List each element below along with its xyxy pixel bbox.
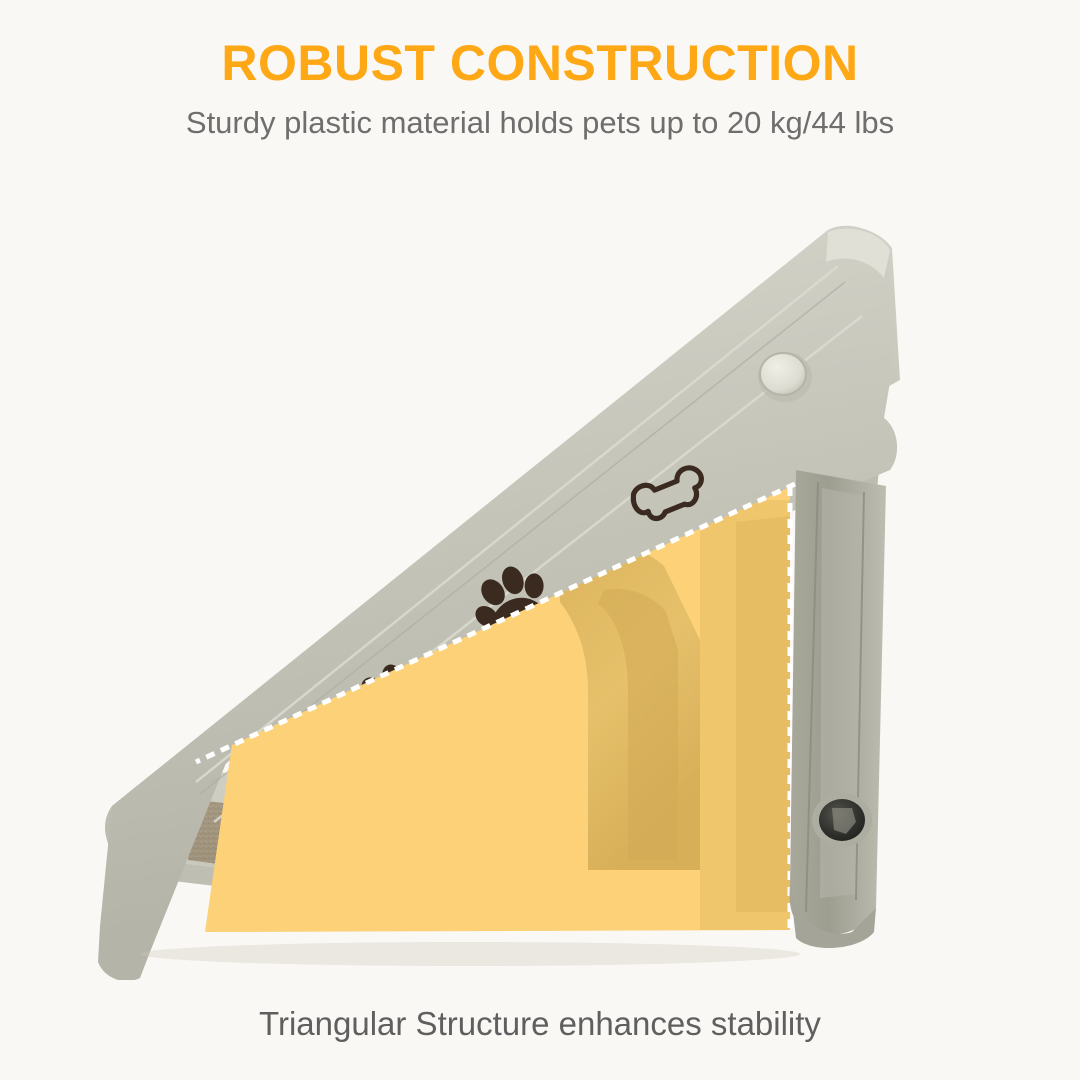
page-subtitle: Sturdy plastic material holds pets up to… — [0, 104, 1080, 141]
pet-stairs-graphic — [0, 170, 1080, 980]
page-title: ROBUST CONSTRUCTION — [0, 36, 1080, 91]
pivot-knob — [758, 352, 812, 402]
product-illustration — [0, 170, 1080, 980]
support-leg — [790, 470, 886, 980]
page-caption: Triangular Structure enhances stability — [0, 1004, 1080, 1044]
marketing-image: ROBUST CONSTRUCTION Sturdy plastic mater… — [0, 0, 1080, 1080]
contact-shadow — [140, 942, 800, 966]
